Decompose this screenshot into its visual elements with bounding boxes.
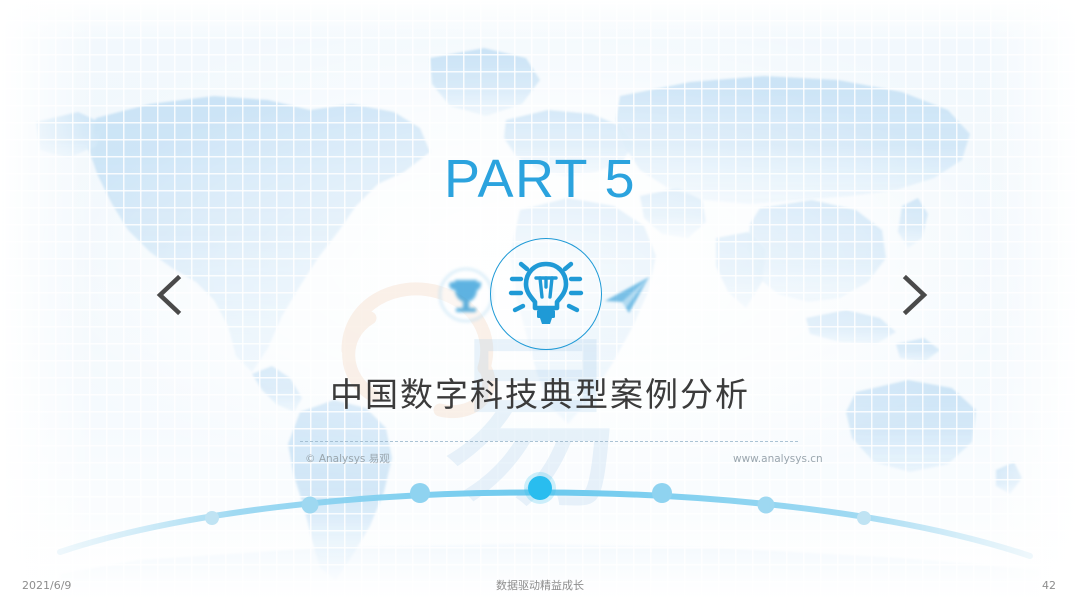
progress-arc-svg: [0, 452, 1080, 562]
progress-dot-group: [205, 472, 871, 525]
slide-footer: 2021/6/9 数据驱动精益成长 42: [0, 576, 1080, 596]
progress-dot-active[interactable]: [528, 476, 552, 500]
progress-dot[interactable]: [857, 511, 871, 525]
section-subtitle: 中国数字科技典型案例分析: [0, 373, 1080, 417]
footer-page-number: 42: [1042, 576, 1056, 596]
paper-plane-glyph: [599, 271, 657, 319]
lightbulb-icon: [490, 238, 602, 350]
chevron-left-glyph: [146, 268, 194, 322]
progress-dot[interactable]: [652, 483, 672, 503]
page-title: PART 5: [0, 148, 1080, 210]
progress-dot[interactable]: [758, 497, 775, 514]
progress-dot[interactable]: [410, 483, 430, 503]
paper-plane-icon: [590, 232, 666, 358]
trophy-glyph: [435, 264, 497, 326]
progress-dot[interactable]: [302, 497, 319, 514]
presentation-slide: 易 PART 5: [0, 0, 1080, 608]
lightbulb-glyph: [507, 255, 585, 333]
section-progress-indicator[interactable]: [0, 452, 1080, 562]
chevron-right-icon[interactable]: [890, 268, 938, 322]
brand-divider: [300, 441, 800, 442]
footer-note: 数据驱动精益成长: [0, 576, 1080, 596]
progress-dot[interactable]: [205, 511, 219, 525]
chevron-right-glyph: [890, 268, 938, 322]
chevron-left-icon[interactable]: [146, 268, 194, 322]
section-icon-cluster: [400, 232, 690, 358]
